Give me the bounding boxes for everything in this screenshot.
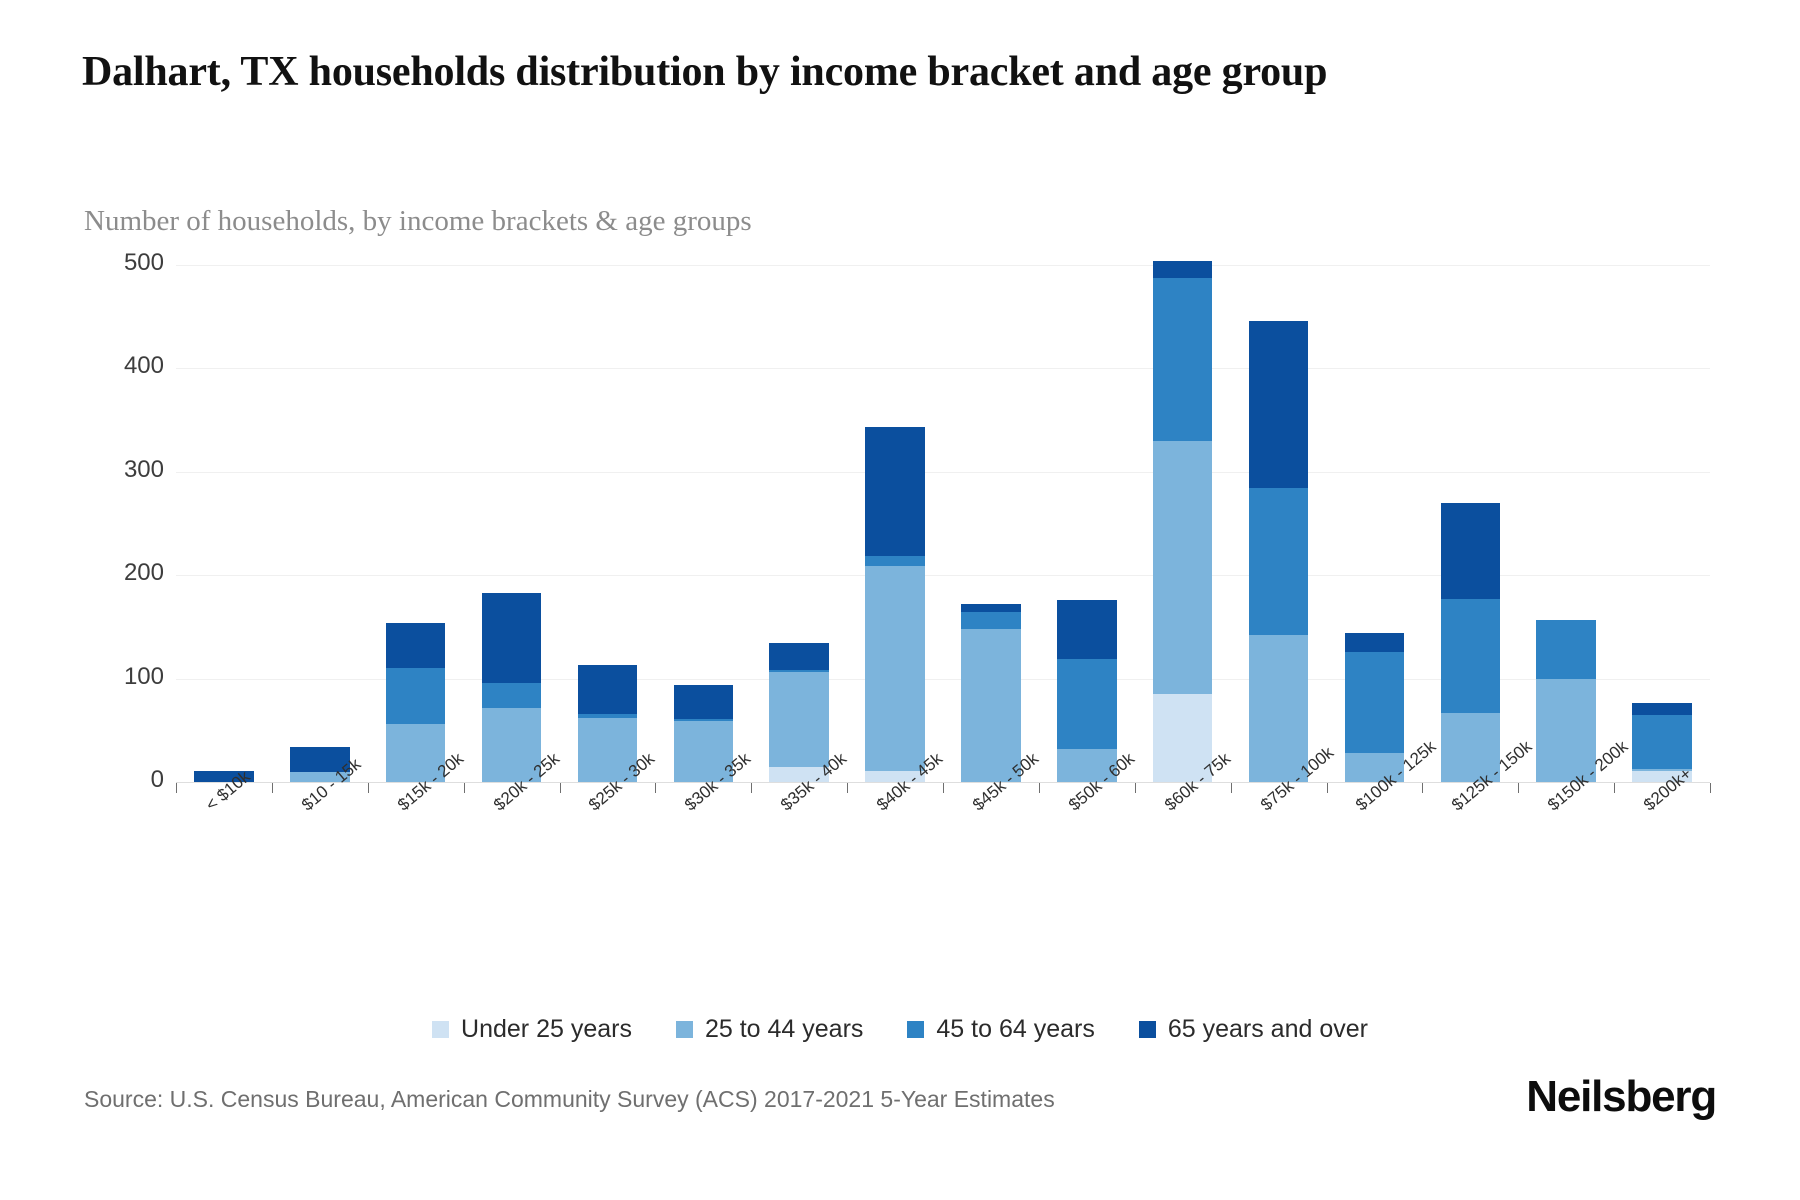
brand-logo: Neilsberg [1526, 1072, 1716, 1122]
bar-stack[interactable] [482, 593, 541, 782]
bar-segment[interactable] [961, 612, 1020, 629]
bar-segment[interactable] [1249, 635, 1308, 782]
bar-segment[interactable] [961, 604, 1020, 612]
bar-stack[interactable] [769, 643, 828, 782]
legend-swatch-icon [907, 1021, 924, 1038]
bar-segment[interactable] [769, 672, 828, 766]
chart-legend: Under 25 years25 to 44 years45 to 64 yea… [0, 1015, 1800, 1044]
bar-segment[interactable] [865, 427, 924, 555]
bar-segment[interactable] [769, 643, 828, 670]
source-note: Source: U.S. Census Bureau, American Com… [84, 1086, 1055, 1113]
bar-stack[interactable] [1441, 503, 1500, 782]
bar-segment[interactable] [865, 566, 924, 771]
bar-segment[interactable] [482, 593, 541, 683]
legend-item-3[interactable]: 65 years and over [1139, 1015, 1368, 1044]
bar-segment[interactable] [578, 714, 637, 718]
bar-stack[interactable] [1536, 620, 1595, 782]
bar-stack[interactable] [386, 623, 445, 782]
bar-segment[interactable] [1632, 715, 1691, 769]
bar-segment[interactable] [1057, 600, 1116, 659]
bar-segment[interactable] [1345, 633, 1404, 652]
bar-segment[interactable] [674, 719, 733, 721]
bar-segment[interactable] [1536, 620, 1595, 679]
bar-segment[interactable] [386, 623, 445, 668]
bar-stack[interactable] [865, 427, 924, 782]
legend-swatch-icon [676, 1021, 693, 1038]
bar-stack[interactable] [961, 604, 1020, 782]
bar-stack[interactable] [1153, 261, 1212, 782]
legend-swatch-icon [1139, 1021, 1156, 1038]
legend-label: Under 25 years [461, 1015, 632, 1044]
bar-segment[interactable] [769, 670, 828, 672]
bar-segment[interactable] [386, 668, 445, 724]
bar-stack[interactable] [1249, 321, 1308, 782]
chart-page: Dalhart, TX households distribution by i… [0, 0, 1800, 1200]
legend-swatch-icon [432, 1021, 449, 1038]
bar-stack[interactable] [1345, 633, 1404, 782]
bar-segment[interactable] [1153, 278, 1212, 440]
bar-segment[interactable] [674, 685, 733, 719]
bar-segment[interactable] [1441, 599, 1500, 713]
legend-label: 25 to 44 years [705, 1015, 863, 1044]
bar-segment[interactable] [1153, 441, 1212, 694]
legend-label: 45 to 64 years [936, 1015, 1094, 1044]
legend-item-2[interactable]: 45 to 64 years [907, 1015, 1094, 1044]
legend-label: 65 years and over [1168, 1015, 1368, 1044]
bar-segment[interactable] [1057, 659, 1116, 749]
legend-item-0[interactable]: Under 25 years [432, 1015, 632, 1044]
bar-stack[interactable] [1057, 600, 1116, 782]
bar-segment[interactable] [482, 683, 541, 708]
bar-segment[interactable] [578, 665, 637, 714]
bar-segment[interactable] [1153, 261, 1212, 279]
bar-segment[interactable] [865, 556, 924, 566]
bar-segment[interactable] [1632, 703, 1691, 714]
bar-segment[interactable] [1441, 503, 1500, 599]
bar-segment[interactable] [1345, 652, 1404, 753]
bar-segment[interactable] [961, 629, 1020, 782]
bar-segment[interactable] [1249, 321, 1308, 489]
bar-segment[interactable] [1249, 488, 1308, 635]
legend-item-1[interactable]: 25 to 44 years [676, 1015, 863, 1044]
